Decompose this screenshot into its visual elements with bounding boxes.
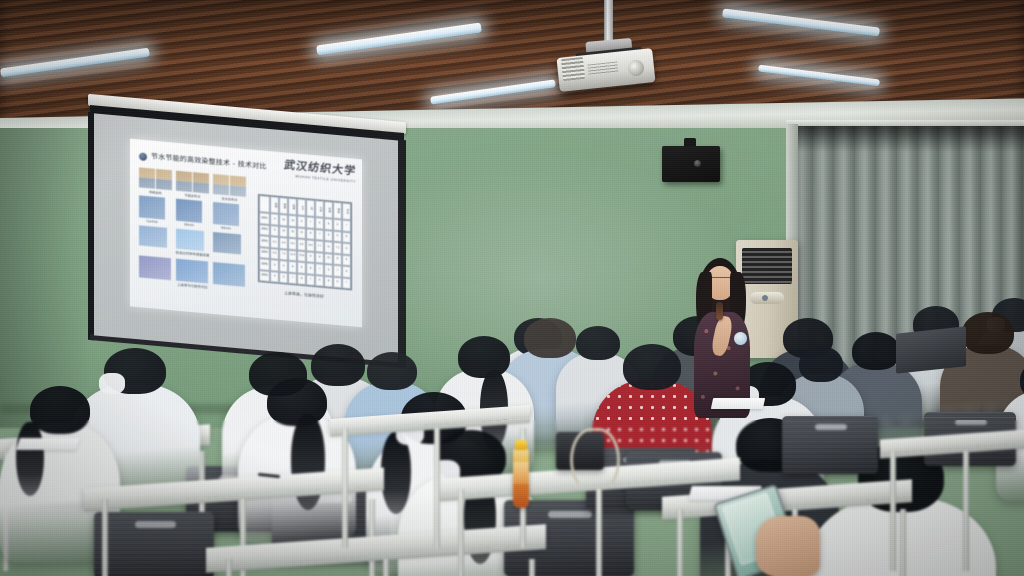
presenter-speaking <box>676 258 764 418</box>
desk-leg <box>102 499 108 576</box>
presenter-badge <box>734 332 747 345</box>
laptop[interactable] <box>896 326 966 373</box>
bottle-label <box>513 462 529 484</box>
desk-leg <box>677 509 683 576</box>
hand-holding-phone <box>756 516 820 576</box>
chair-handle-slot <box>955 420 986 425</box>
desk-leg <box>529 559 535 576</box>
bottle-cap <box>515 440 527 450</box>
chair-handle-slot <box>815 424 848 430</box>
desk-leg <box>342 428 348 548</box>
desk-leg <box>383 559 389 576</box>
furniture-front-layer <box>0 0 1024 576</box>
paper-handout-left <box>16 438 80 450</box>
desk-leg <box>963 451 969 571</box>
classroom-photo: 节水节能的高效染整技术 - 技术对比 武汉纺织大学 WUHAN TEXTILE … <box>0 0 1024 576</box>
chair-handle-slot <box>135 521 176 528</box>
chair-handle-slot <box>548 511 592 519</box>
desk-leg <box>226 559 232 576</box>
paper-handout-right <box>711 398 765 409</box>
bag-strap <box>570 428 620 492</box>
desk-leg <box>458 489 464 576</box>
desk-leg <box>900 509 906 576</box>
desk-leg <box>596 489 602 576</box>
desk-leg <box>434 428 440 548</box>
desk-row-front-left <box>206 524 546 568</box>
microphone-icon <box>716 302 723 320</box>
desk-leg <box>890 451 896 571</box>
